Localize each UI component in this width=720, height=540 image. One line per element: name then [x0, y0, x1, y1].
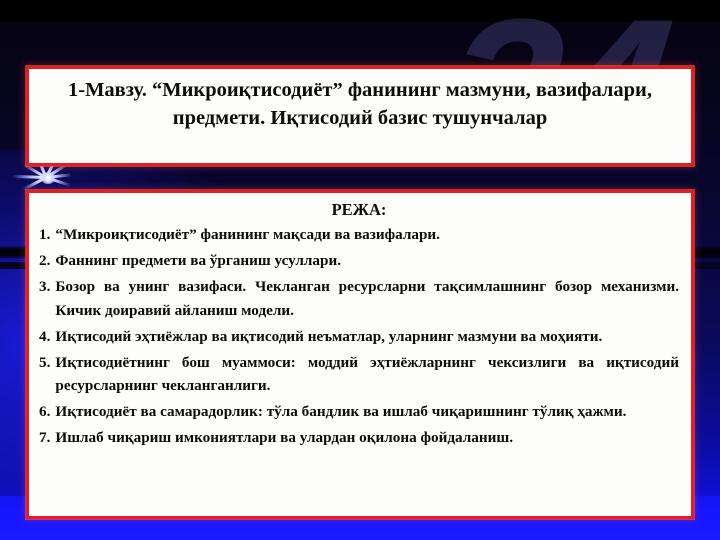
- plan-item-text: Бозор ва унинг вазифаси. Чекланган ресур…: [55, 275, 679, 322]
- plan-item-text: Иқтисодиёт ва самарадорлик: тўла бандлик…: [55, 400, 679, 424]
- plan-item-number: 2.: [39, 249, 55, 273]
- plan-list-item: 5.Иқтисодиётнинг бош муаммоси: моддий эҳ…: [39, 351, 679, 398]
- plan-list-item: 6.Иқтисодиёт ва самарадорлик: тўла бандл…: [39, 400, 679, 424]
- title-box: 1-Мавзу. “Микроиқтисодиёт” фанининг мазм…: [26, 66, 694, 166]
- plan-box: РЕЖА: 1.“Микроиқтисодиёт” фанининг мақса…: [26, 190, 694, 519]
- plan-list-item: 4.Иқтисодий эҳтиёжлар ва иқтисодий неъма…: [39, 325, 679, 349]
- plan-item-number: 4.: [39, 325, 55, 349]
- plan-list-item: 2.Фаннинг предмети ва ўрганиш усуллари.: [39, 249, 679, 273]
- plan-item-text: Фаннинг предмети ва ўрганиш усуллари.: [55, 249, 679, 273]
- plan-item-text: “Микроиқтисодиёт” фанининг мақсади ва ва…: [55, 223, 679, 247]
- plan-list-item: 1.“Микроиқтисодиёт” фанининг мақсади ва …: [39, 223, 679, 247]
- plan-item-text: Иқтисодий эҳтиёжлар ва иқтисодий неъматл…: [55, 325, 679, 349]
- plan-item-number: 7.: [39, 426, 55, 450]
- plan-item-text: Ишлаб чиқариш имкониятлари ва улардан оқ…: [55, 426, 679, 450]
- plan-item-number: 3.: [39, 275, 55, 299]
- plan-item-text: Иқтисодиётнинг бош муаммоси: моддий эҳти…: [55, 351, 679, 398]
- plan-item-number: 1.: [39, 223, 55, 247]
- page-title: 1-Мавзу. “Микроиқтисодиёт” фанининг мазм…: [45, 76, 675, 132]
- plan-item-number: 5.: [39, 351, 55, 375]
- plan-list-item: 7.Ишлаб чиқариш имкониятлари ва улардан …: [39, 426, 679, 450]
- plan-heading: РЕЖА:: [39, 199, 679, 221]
- slide-canvas: 24 Hujjat 1-Мавзу. “Микроиқтисодиёт” фан…: [0, 0, 720, 540]
- plan-list: 1.“Микроиқтисодиёт” фанининг мақсади ва …: [39, 223, 679, 450]
- plan-item-number: 6.: [39, 400, 55, 424]
- plan-list-item: 3.Бозор ва унинг вазифаси. Чекланган рес…: [39, 275, 679, 322]
